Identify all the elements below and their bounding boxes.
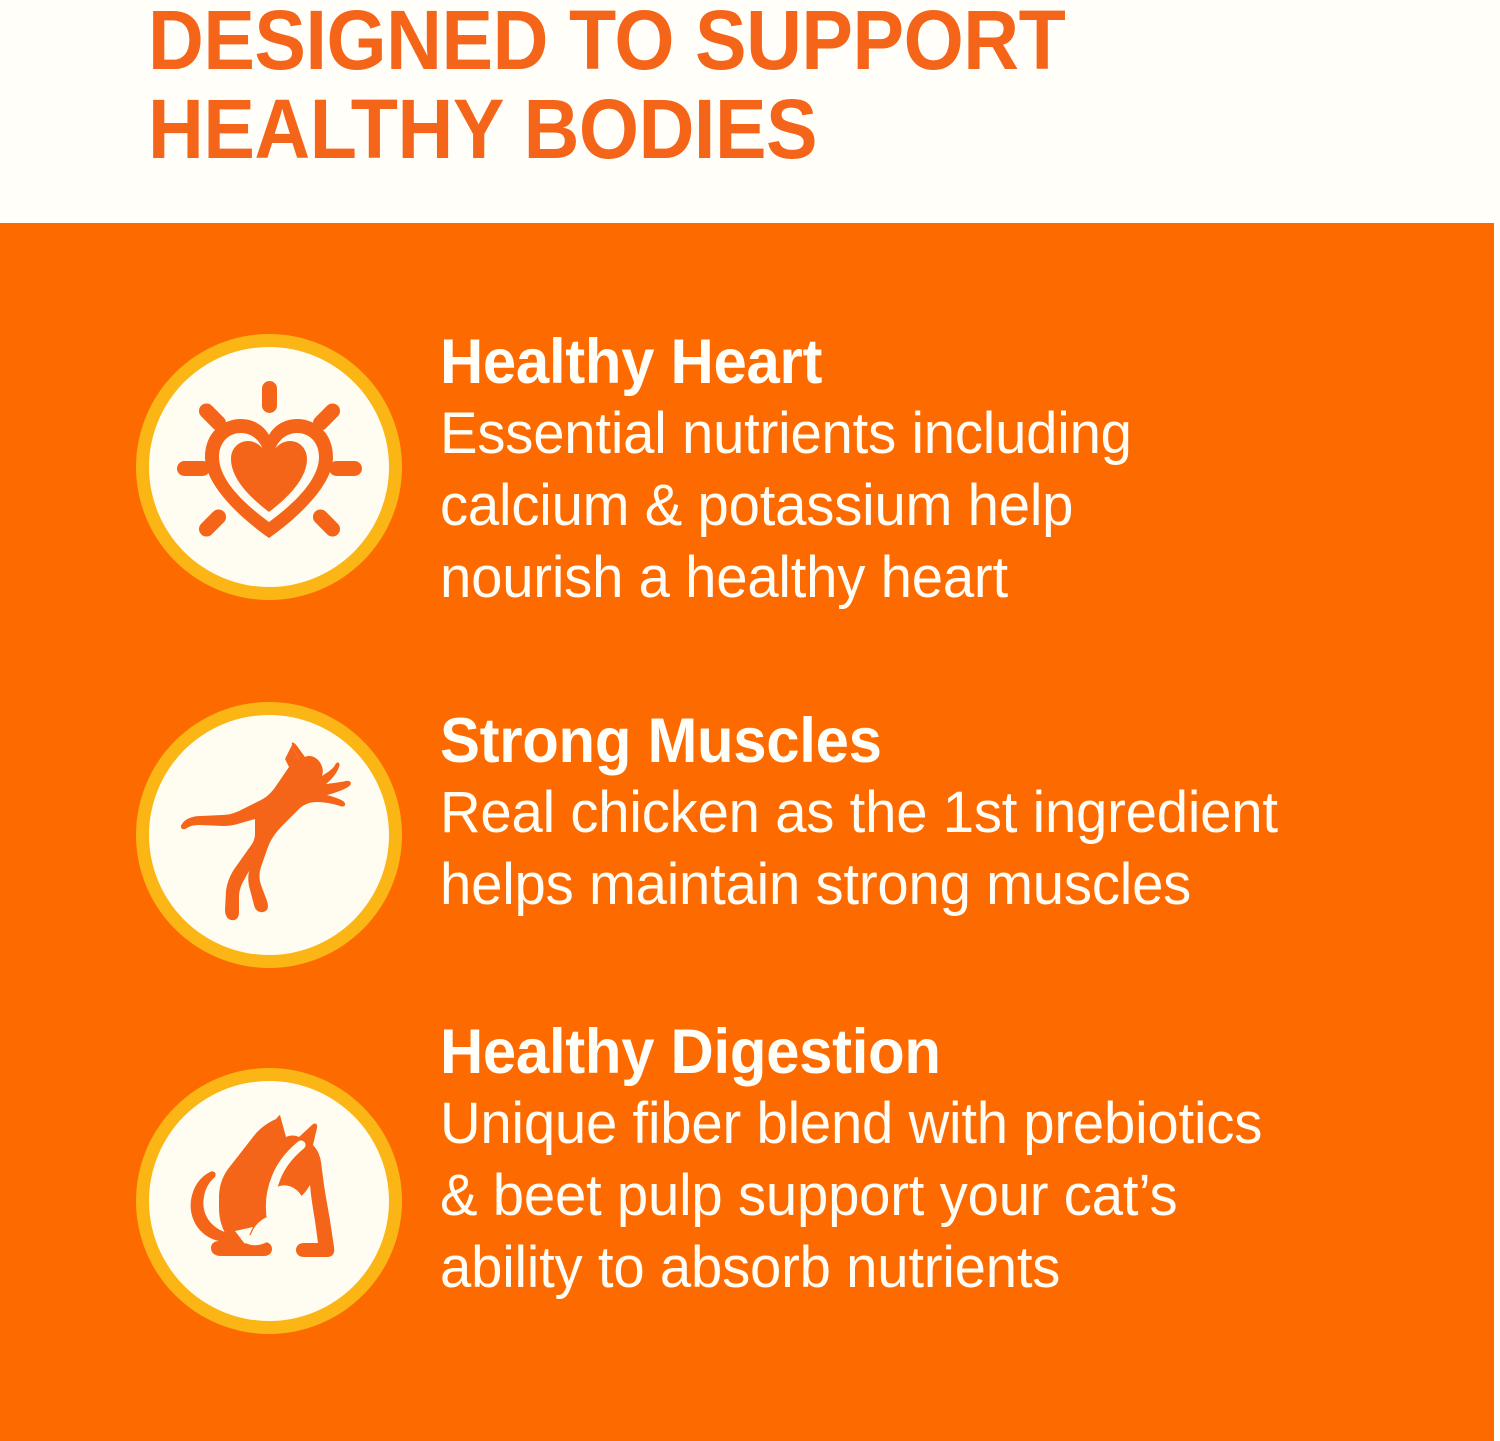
feature-title: Strong Muscles — [440, 707, 1400, 775]
page-title: DESIGNED TO SUPPORT HEALTHY BODIES — [148, 0, 1234, 174]
infographic-page: DESIGNED TO SUPPORT HEALTHY BODIES — [0, 0, 1500, 1441]
icon-badge-healthy-digestion — [149, 1081, 389, 1321]
feature-title: Healthy Heart — [440, 328, 1400, 396]
feature-title: Healthy Digestion — [440, 1018, 1400, 1086]
feature-body: Real chicken as the 1st ingredient helps… — [440, 777, 1420, 921]
icon-badge-strong-muscles — [149, 715, 389, 955]
feature-body: Unique fiber blend with prebiotics & bee… — [440, 1088, 1420, 1304]
icon-badge-healthy-heart — [149, 347, 389, 587]
right-edge-strip — [1494, 223, 1500, 1441]
feature-text-healthy-heart: Healthy Heart Essential nutrients includ… — [440, 328, 1450, 614]
feature-body: Essential nutrients including calcium & … — [440, 398, 1420, 614]
feature-text-strong-muscles: Strong Muscles Real chicken as the 1st i… — [440, 707, 1450, 921]
sitting-cat-digestion-icon — [149, 1081, 389, 1321]
header-band: DESIGNED TO SUPPORT HEALTHY BODIES — [0, 0, 1500, 223]
feature-text-healthy-digestion: Healthy Digestion Unique fiber blend wit… — [440, 1018, 1450, 1304]
leaping-cat-icon — [149, 715, 389, 955]
heart-radiating-icon — [149, 347, 389, 587]
